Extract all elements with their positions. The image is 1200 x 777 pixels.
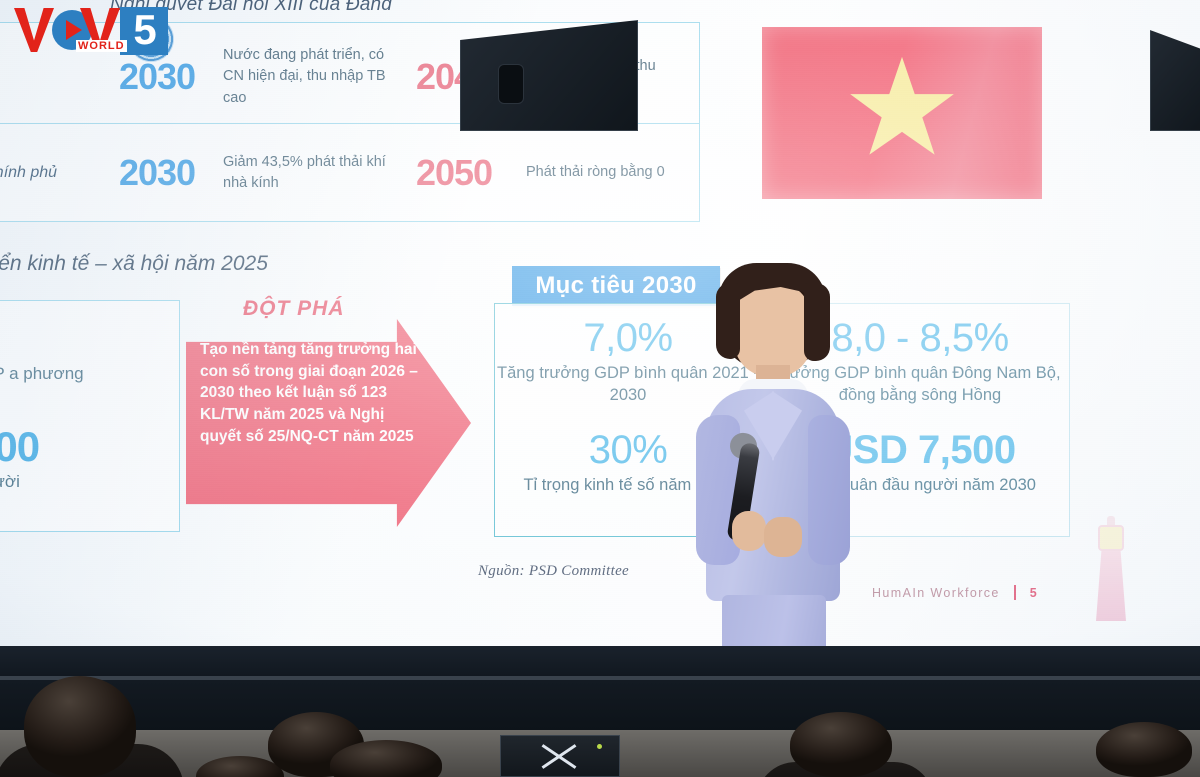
left-stat-label: trưởng GRDP a phương [0,363,169,386]
audience-head [24,676,136,777]
breakthrough-body: Tạo nền tảng tăng trưởng hai con số tron… [200,339,428,447]
row-year-left: 2030 [91,56,223,98]
table-row: của Chính phủ 2030 Giảm 43,5% phát thải … [0,125,699,221]
left-stat-block: -10% trưởng GRDP a phương [0,315,169,386]
row-year-left: 2030 [91,152,223,194]
audience-head [1096,722,1192,777]
logo-v-icon [14,8,54,52]
row-desc-left: Giảm 43,5% phát thải khí nhà kính [223,152,388,194]
flag-star-icon [848,57,956,165]
row-year-right: 2050 [388,152,520,194]
stage-backdrop [0,646,1200,676]
slide-top-heading: Nghị quyết Đại hội XIII của Đảng [110,0,750,10]
footer-divider [1014,585,1016,600]
speaker-arm [808,415,850,565]
left-stat-block: D 5.000 quân/đầu người [0,423,169,494]
vietnam-flag-icon [762,27,1042,199]
lighthouse-icon [1094,516,1128,634]
left-stat-card: -10% trưởng GRDP a phương D 5.000 quân/đ… [0,300,180,532]
row-desc-left: Nước đang phát triển, có CN hiện đại, th… [223,45,388,108]
source-note: Nguồn: PSD Committee [478,563,629,580]
row-label: của Chính phủ [0,164,91,182]
left-stat-value: D 5.000 [0,423,169,471]
slide-section-heading: phát triển kinh tế – xã hội năm 2025 [0,252,554,276]
speaker-hair-side [716,283,740,359]
breakthrough-title: ĐỘT PHÁ [243,297,345,321]
vov-world-logo: 5 WORLD [12,4,182,62]
speaker-hair-side [804,283,830,361]
left-stat-value: -10% [0,315,169,363]
audience-head [790,712,892,777]
logo-world-label: WORLD [76,40,127,52]
stage-monitor-port [498,64,524,104]
screenshot-root: Nghị quyết Đại hội XIII của Đảng N 2030 … [0,0,1200,777]
logo-play-icon [66,20,82,40]
row-desc-right: Phát thải ròng bằng 0 [520,162,685,183]
slide-footer: HumAIn Workforce 5 [872,585,1038,600]
row-label: N [0,68,91,86]
left-stat-label: quân/đầu người [0,471,169,494]
speaker-hand [764,517,802,557]
mixer-led-icon [597,744,602,749]
stage-front-panel [0,680,1200,730]
footer-page-number: 5 [1030,586,1038,600]
speaker-hand [732,511,766,551]
av-mixer-device [500,735,620,777]
footer-brand-label: HumAIn Workforce [872,586,1000,600]
logo-channel-number: 5 [120,7,168,55]
